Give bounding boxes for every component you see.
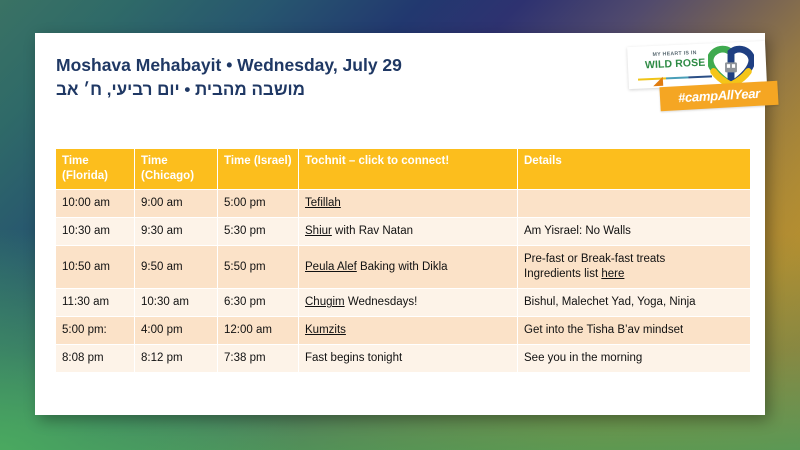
- table-header-row: Time (Florida) Time (Chicago) Time (Isra…: [56, 149, 750, 189]
- details-line-2: Ingredients list here: [524, 267, 744, 282]
- cell-time-israel: 5:30 pm: [218, 218, 298, 245]
- details-line-1: Get into the Tisha B’av mindset: [524, 324, 683, 336]
- cell-time-israel: 5:00 pm: [218, 190, 298, 217]
- cell-tochnit: Chugim Wednesdays!: [299, 289, 517, 316]
- cell-time-chicago: 9:50 am: [135, 246, 217, 288]
- cell-tochnit: Kumzits: [299, 317, 517, 344]
- details-line-1: Bishul, Malechet Yad, Yoga, Ninja: [524, 296, 696, 308]
- slide-background: Moshava Mehabayit • Wednesday, July 29 מ…: [0, 0, 800, 450]
- banner-fold: [653, 77, 663, 87]
- tochnit-rest: Fast begins tonight: [305, 352, 402, 364]
- cell-time-israel: 5:50 pm: [218, 246, 298, 288]
- tochnit-rest: Wednesdays!: [345, 296, 418, 308]
- table-row: 8:08 pm 8:12 pm 7:38 pm Fast begins toni…: [56, 345, 750, 372]
- cell-details: [518, 190, 750, 217]
- cell-time-florida: 8:08 pm: [56, 345, 134, 372]
- details-line-1: Am Yisrael: No Walls: [524, 225, 631, 237]
- details-line-2-text: Ingredients list: [524, 268, 601, 280]
- details-line-1: See you in the morning: [524, 352, 642, 364]
- tochnit-link[interactable]: Kumzits: [305, 324, 346, 336]
- table-row: 10:00 am 9:00 am 5:00 pm Tefillah: [56, 190, 750, 217]
- camp-logo: MY HEART IS IN WILD ROSE #campAllYear: [590, 38, 770, 138]
- cell-time-florida: 11:30 am: [56, 289, 134, 316]
- table-row: 10:50 am 9:50 am 5:50 pm Peula Alef Baki…: [56, 246, 750, 288]
- details-line-1: Pre-fast or Break-fast treats: [524, 252, 744, 267]
- schedule-table: Time (Florida) Time (Chicago) Time (Isra…: [55, 148, 751, 373]
- cell-tochnit: Tefillah: [299, 190, 517, 217]
- cell-details: Get into the Tisha B’av mindset: [518, 317, 750, 344]
- slide-card: Moshava Mehabayit • Wednesday, July 29 מ…: [35, 33, 765, 415]
- page-title-english: Moshava Mehabayit • Wednesday, July 29: [56, 53, 576, 78]
- tochnit-link[interactable]: Shiur: [305, 225, 332, 237]
- ingredients-list-link[interactable]: here: [601, 268, 624, 280]
- cell-time-israel: 12:00 am: [218, 317, 298, 344]
- cell-time-israel: 6:30 pm: [218, 289, 298, 316]
- heart-icon: [708, 45, 754, 87]
- cell-time-florida: 10:00 am: [56, 190, 134, 217]
- column-header-time-florida: Time (Florida): [56, 149, 134, 189]
- title-block: Moshava Mehabayit • Wednesday, July 29 מ…: [56, 53, 576, 102]
- cell-time-chicago: 10:30 am: [135, 289, 217, 316]
- cell-time-chicago: 4:00 pm: [135, 317, 217, 344]
- column-header-time-chicago: Time (Chicago): [135, 149, 217, 189]
- tochnit-rest: with Rav Natan: [332, 225, 413, 237]
- table-row: 11:30 am 10:30 am 6:30 pm Chugim Wednesd…: [56, 289, 750, 316]
- tochnit-link[interactable]: Peula Alef: [305, 261, 357, 273]
- cell-time-chicago: 9:00 am: [135, 190, 217, 217]
- cell-details: See you in the morning: [518, 345, 750, 372]
- tochnit-link[interactable]: Tefillah: [305, 197, 341, 209]
- column-header-details: Details: [518, 149, 750, 189]
- cell-details: Am Yisrael: No Walls: [518, 218, 750, 245]
- tochnit-rest: Baking with Dikla: [357, 261, 448, 273]
- cell-tochnit: Shiur with Rav Natan: [299, 218, 517, 245]
- cell-details: Bishul, Malechet Yad, Yoga, Ninja: [518, 289, 750, 316]
- column-header-time-israel: Time (Israel): [218, 149, 298, 189]
- cell-details: Pre-fast or Break-fast treats Ingredient…: [518, 246, 750, 288]
- cell-time-chicago: 9:30 am: [135, 218, 217, 245]
- page-title-hebrew: מושבה מהבית • יום רביעי, ח׳ אב: [56, 78, 576, 102]
- cell-time-florida: 10:30 am: [56, 218, 134, 245]
- tochnit-link[interactable]: Chugim: [305, 296, 345, 308]
- cell-time-florida: 5:00 pm:: [56, 317, 134, 344]
- cell-time-chicago: 8:12 pm: [135, 345, 217, 372]
- table-row: 5:00 pm: 4:00 pm 12:00 am Kumzits Get in…: [56, 317, 750, 344]
- column-header-tochnit: Tochnit – click to connect!: [299, 149, 517, 189]
- table-row: 10:30 am 9:30 am 5:30 pm Shiur with Rav …: [56, 218, 750, 245]
- cell-tochnit: Peula Alef Baking with Dikla: [299, 246, 517, 288]
- cell-tochnit: Fast begins tonight: [299, 345, 517, 372]
- cell-time-israel: 7:38 pm: [218, 345, 298, 372]
- logo-wordmark: MY HEART IS IN WILD ROSE: [640, 50, 711, 71]
- cell-time-florida: 10:50 am: [56, 246, 134, 288]
